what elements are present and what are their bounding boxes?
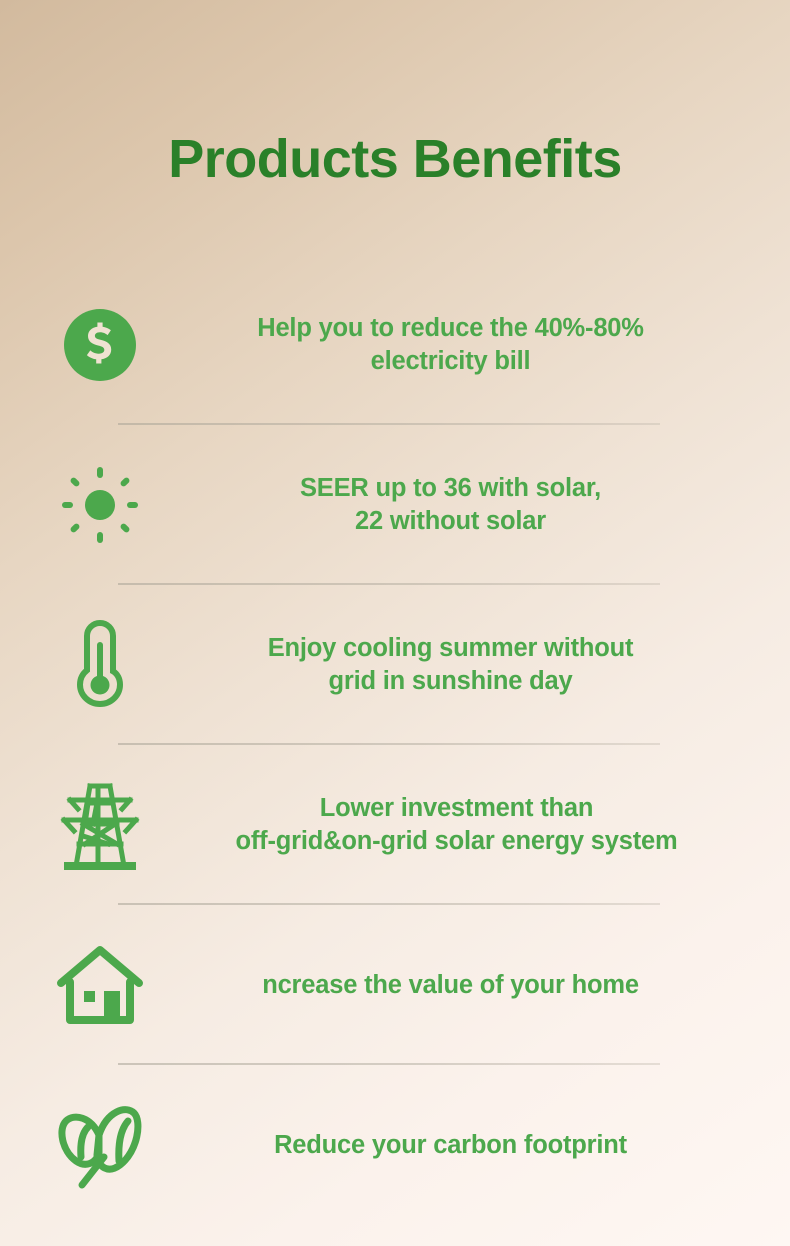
benefit-icon-cell xyxy=(0,745,185,905)
benefit-row-seer-rating: SEER up to 36 with solar, 22 without sol… xyxy=(0,425,790,585)
benefit-text-cell: Enjoy cooling summer without grid in sun… xyxy=(185,632,790,697)
benefit-icon-cell xyxy=(0,425,185,585)
dollar-circle-icon xyxy=(63,308,137,382)
benefit-text-line-1: Enjoy cooling summer without xyxy=(185,632,716,665)
benefit-text-cell: Reduce your carbon footprint xyxy=(185,1129,790,1162)
page-title: Products Benefits xyxy=(168,131,622,188)
benefit-row-carbon-footprint: Reduce your carbon footprint xyxy=(0,1065,790,1225)
benefit-icon-cell xyxy=(0,265,185,425)
page-title-container: Products Benefits xyxy=(0,95,790,224)
benefits-list: Help you to reduce the 40%-80% electrici… xyxy=(0,265,790,1225)
leaf-icon xyxy=(58,1099,142,1191)
benefit-text-line-2: electricity bill xyxy=(185,345,716,378)
benefit-text-line-1: Reduce your carbon footprint xyxy=(185,1129,716,1162)
benefit-text-cell: Lower investment than off-grid&on-grid s… xyxy=(185,792,790,857)
benefit-text-line-2: 22 without solar xyxy=(185,505,716,538)
house-icon xyxy=(56,944,144,1026)
products-benefits-poster: Products Benefits Help you to reduce the… xyxy=(0,0,790,1246)
benefit-row-cooling-summer: Enjoy cooling summer without grid in sun… xyxy=(0,585,790,745)
benefit-text-cell: ncrease the value of your home xyxy=(185,969,790,1002)
benefit-row-electricity-bill: Help you to reduce the 40%-80% electrici… xyxy=(0,265,790,425)
benefit-text-line-1: ncrease the value of your home xyxy=(185,969,716,1002)
benefit-row-lower-investment: Lower investment than off-grid&on-grid s… xyxy=(0,745,790,905)
benefit-text-cell: SEER up to 36 with solar, 22 without sol… xyxy=(185,472,790,537)
benefit-text-line-2: grid in sunshine day xyxy=(185,665,716,698)
benefit-text-line-1: Help you to reduce the 40%-80% xyxy=(185,312,716,345)
benefit-icon-cell xyxy=(0,905,185,1065)
benefit-text-line-2: off-grid&on-grid solar energy system xyxy=(185,825,728,858)
thermometer-icon xyxy=(72,620,128,710)
benefit-icon-cell xyxy=(0,1065,185,1225)
benefit-row-home-value: ncrease the value of your home xyxy=(0,905,790,1065)
benefit-text-line-1: SEER up to 36 with solar, xyxy=(185,472,716,505)
benefit-text-cell: Help you to reduce the 40%-80% electrici… xyxy=(185,312,790,377)
benefit-text-line-1: Lower investment than xyxy=(185,792,728,825)
sun-icon xyxy=(61,466,139,544)
benefit-icon-cell xyxy=(0,585,185,745)
power-tower-icon xyxy=(60,776,140,874)
